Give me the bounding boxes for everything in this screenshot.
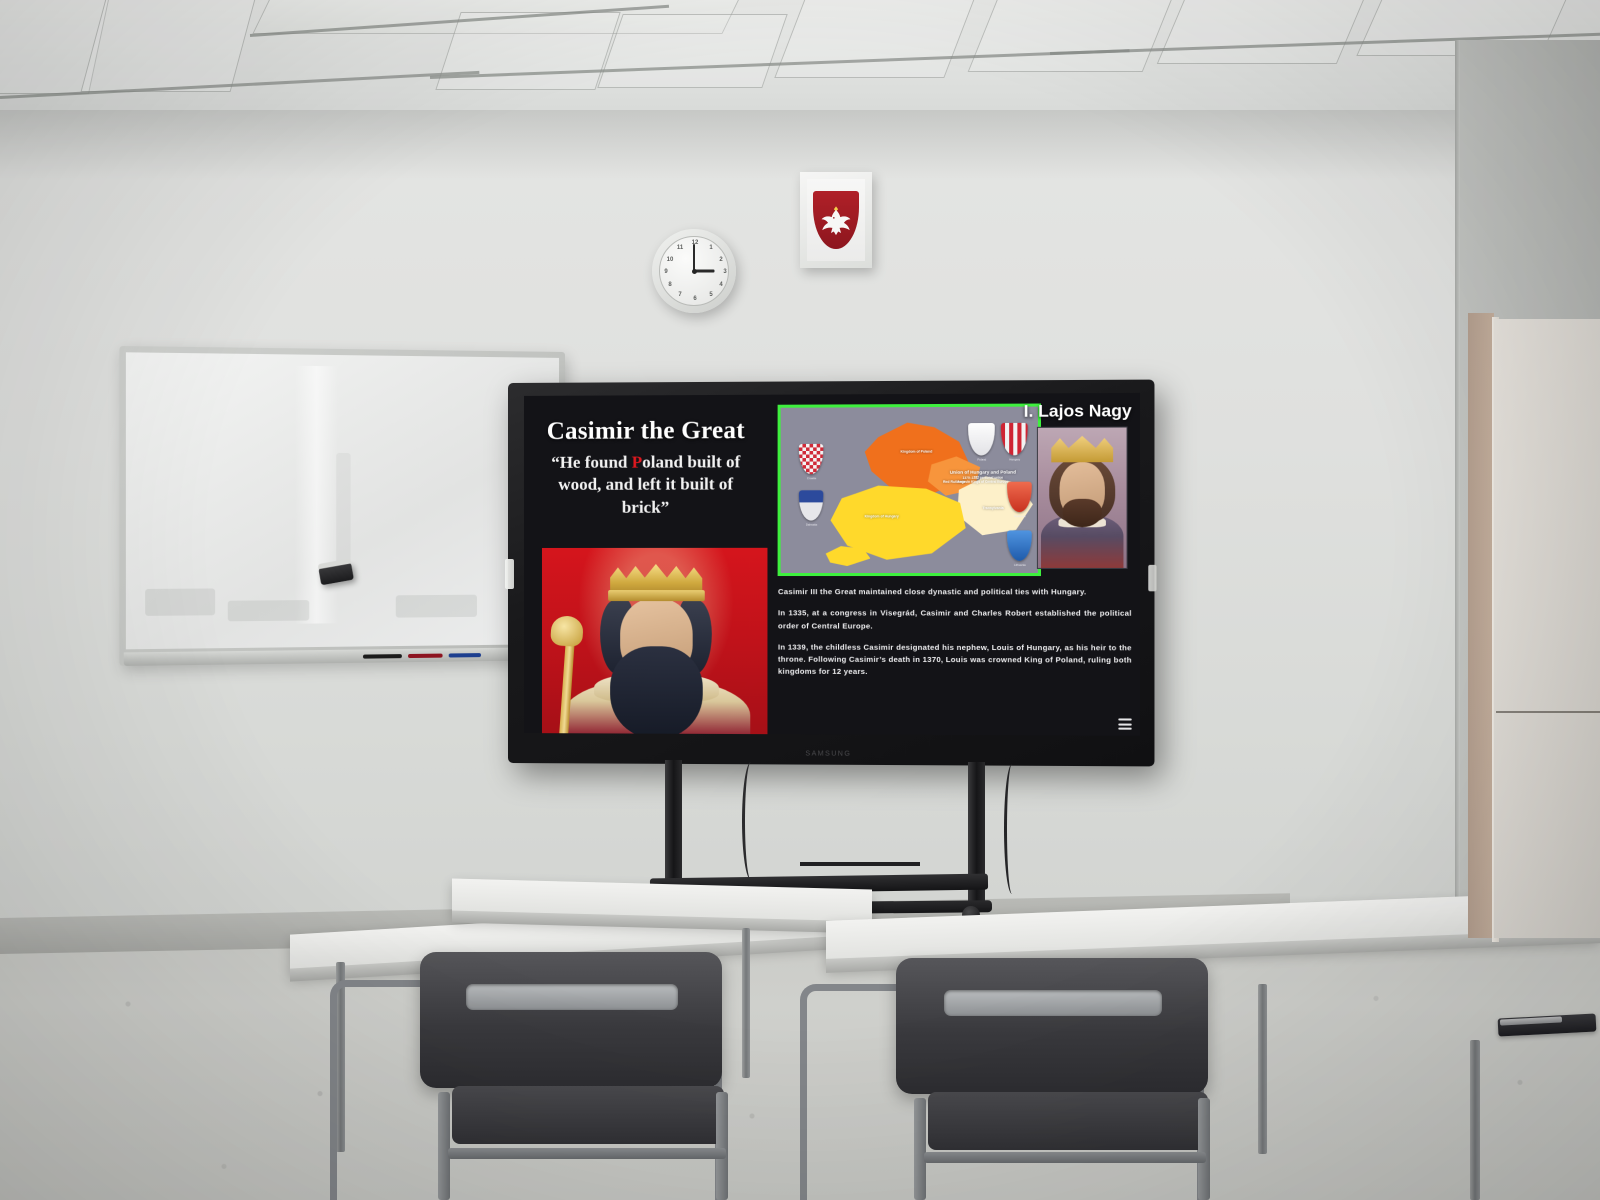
shield-dalmatia	[799, 490, 823, 520]
marker-blue[interactable]	[449, 653, 481, 657]
desk-right-leg-far	[1470, 1040, 1480, 1200]
ceiling-tile	[774, 0, 975, 78]
whiteboard-smudge	[145, 588, 215, 615]
marker-red[interactable]	[408, 654, 443, 658]
clock-numeral: 8	[665, 282, 675, 288]
lajos-beard	[1063, 499, 1102, 528]
chair-right-seat[interactable]	[928, 1092, 1208, 1150]
ceiling-tile	[597, 14, 787, 88]
presentation-slide[interactable]: Casimir the Great “He found Poland built…	[524, 393, 1140, 736]
shield-lithuania	[1007, 530, 1032, 560]
white-eagle-icon	[818, 203, 854, 239]
chair-right-leg	[914, 1098, 926, 1200]
bezel-reflection-left	[505, 559, 514, 589]
chair-left-handle-slot[interactable]	[466, 984, 678, 1010]
desk-center-leg	[742, 928, 750, 1078]
clock-numeral: 3	[720, 269, 730, 275]
whiteboard-smudge	[336, 453, 350, 575]
chair-right-handle-slot[interactable]	[944, 990, 1162, 1016]
shield-caption-ruthenia: Ruthenia	[1006, 514, 1033, 518]
slide-quote: “He found Poland built of wood, and left…	[534, 451, 758, 519]
quote-highlight-letter: P	[632, 453, 642, 472]
clock-face: 12 1 2 3 4 5 6 7 8 9 10 11	[659, 236, 729, 306]
ceiling-tile	[435, 12, 620, 90]
desk-right-leg	[1258, 984, 1267, 1154]
union-map-image: Kingdom of Poland Kingdom of Hungary Red…	[778, 404, 1041, 577]
wall-shading	[0, 110, 1470, 180]
shield-caption-lithuania: Lithuania	[1006, 563, 1033, 567]
interactive-display[interactable]: Casimir the Great “He found Poland built…	[508, 380, 1154, 767]
hdmi-cable	[1004, 764, 1020, 894]
slide-left-column: Casimir the Great “He found Poland built…	[524, 395, 768, 734]
clock-numeral: 1	[706, 245, 716, 251]
map-label-poland: Kingdom of Poland	[887, 450, 946, 454]
whiteboard-smudge	[396, 595, 477, 618]
shield-caption-croatia: Croatia	[798, 476, 824, 480]
lajos-heading: I. Lajos Nagy	[1024, 401, 1132, 422]
wall-clock: 12 1 2 3 4 5 6 7 8 9 10 11	[652, 229, 736, 313]
clock-numeral: 10	[665, 257, 675, 263]
quote-line-2: wood, and left it built of	[558, 475, 733, 495]
shield-poland	[969, 423, 996, 456]
whiteboard-glare	[294, 366, 338, 624]
lajos-portrait	[1037, 427, 1128, 569]
chair-left-leg	[438, 1092, 450, 1200]
shield-hungary	[1001, 423, 1028, 456]
casimir-portrait	[542, 548, 771, 736]
casimir-scepter-finial	[550, 615, 584, 647]
shield-caption-dalmatia: Dalmatia	[798, 523, 824, 527]
casimir-crown-band	[608, 590, 705, 601]
marker-black[interactable]	[363, 654, 402, 659]
clock-center-pin	[692, 269, 697, 274]
cabinet-door[interactable]	[1494, 319, 1600, 938]
clock-hour-hand	[694, 270, 714, 273]
clock-numeral: 7	[675, 292, 685, 298]
cabinet-shelf-line	[1496, 711, 1600, 713]
clock-minute-hand	[693, 244, 695, 271]
chair-left-leg	[716, 1092, 728, 1200]
storage-cabinet[interactable]	[1468, 313, 1600, 938]
shield-croatia	[799, 444, 823, 474]
map-label-transylvania: Transylvania	[971, 506, 1016, 510]
hamburger-icon[interactable]	[1118, 718, 1131, 729]
cable-loop	[800, 862, 920, 888]
chair-left-rail	[448, 1148, 726, 1159]
shield-caption-hungary: Hungary	[1001, 457, 1028, 461]
bezel-reflection-right	[1148, 565, 1156, 591]
whiteboard-smudge	[228, 600, 309, 621]
clock-numeral: 12	[690, 240, 700, 246]
whiteboard-surface[interactable]	[126, 352, 559, 649]
chair-right-rail	[924, 1152, 1206, 1163]
casimir-beard	[610, 646, 703, 736]
quote-part-b: oland built of	[642, 452, 740, 471]
quote-line-3: brick”	[622, 498, 670, 517]
power-cable	[742, 762, 760, 880]
ceiling-tile	[81, 0, 260, 92]
display-screen[interactable]: Casimir the Great “He found Poland built…	[524, 393, 1140, 736]
chair-left-backrest[interactable]	[420, 952, 722, 1088]
ceiling-tile	[968, 0, 1178, 72]
display-brand-label: SAMSUNG	[805, 750, 851, 757]
coat-of-arms-inner	[807, 179, 865, 261]
clock-numeral: 9	[661, 269, 671, 275]
chair-left-seat[interactable]	[452, 1086, 724, 1144]
whiteboard[interactable]	[119, 346, 565, 666]
clock-numeral: 11	[675, 245, 685, 251]
polish-shield	[813, 191, 859, 249]
display-bezel: Casimir the Great “He found Poland built…	[508, 380, 1154, 767]
slide-paragraph-3: In 1339, the childless Casimir designate…	[778, 641, 1132, 679]
slide-paragraph-2: In 1335, at a congress in Visegrád, Casi…	[778, 608, 1132, 633]
chair-right-leg	[1198, 1098, 1210, 1200]
slide-paragraph-1: Casimir III the Great maintained close d…	[778, 586, 1132, 599]
clock-numeral: 2	[716, 257, 726, 263]
chair-right-backrest[interactable]	[896, 958, 1208, 1094]
lajos-crown-icon	[1051, 436, 1113, 463]
clock-numeral: 5	[706, 292, 716, 298]
slide-right-column: Kingdom of Poland Kingdom of Hungary Red…	[768, 393, 1140, 736]
slide-body-text: Casimir III the Great maintained close d…	[778, 586, 1132, 689]
clock-numeral: 6	[690, 296, 700, 302]
coat-of-arms-frame	[800, 172, 872, 268]
slide-title: Casimir the Great	[524, 417, 768, 446]
map-label-hungary: Kingdom of Hungary	[850, 514, 913, 518]
shield-caption-poland: Poland	[969, 457, 996, 461]
classroom-scene: 12 1 2 3 4 5 6 7 8 9 10 11	[0, 0, 1600, 1200]
clock-numeral: 4	[716, 282, 726, 288]
ceiling-tile	[1157, 0, 1374, 64]
cabinet-side-panel	[1468, 313, 1494, 938]
quote-part-a: “He found	[551, 453, 632, 472]
